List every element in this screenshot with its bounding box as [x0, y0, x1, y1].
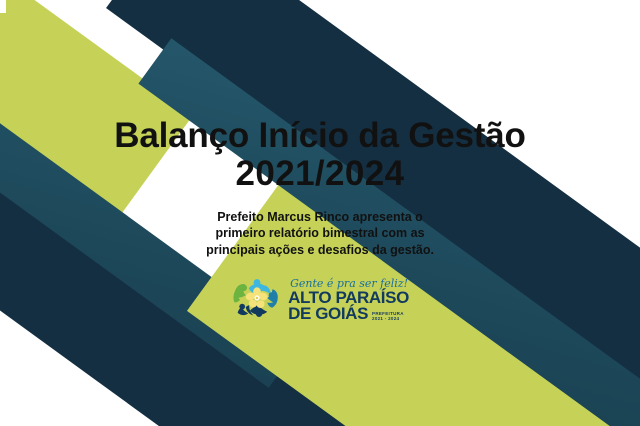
subtitle-line-3: principais ações e desafios da gestão.: [206, 242, 434, 259]
banner-slide: Balanço Início da Gestão 2021/2024 Prefe…: [0, 0, 640, 426]
logo-wordmark: Gente é pra ser feliz! ALTO PARAÍSO DE G…: [288, 278, 409, 322]
logo-state-row: DE GOIÁS PREFEITURA 2021 - 2024: [288, 306, 409, 322]
subtitle-block: Prefeito Marcus Rinco apresenta o primei…: [206, 209, 434, 259]
banner-content: Balanço Início da Gestão 2021/2024 Prefe…: [0, 0, 640, 426]
alto-paraiso-flower-people-emblem: [231, 276, 283, 324]
subtitle-line-1: Prefeito Marcus Rinco apresenta o: [206, 209, 434, 226]
logo-meta: PREFEITURA 2021 - 2024: [372, 311, 404, 322]
city-hall-logo: Gente é pra ser feliz! ALTO PARAÍSO DE G…: [231, 276, 409, 324]
logo-state-name: DE GOIÁS: [288, 306, 368, 322]
logo-meta-term: 2021 - 2024: [372, 316, 404, 321]
page-title: Balanço Início da Gestão: [114, 118, 525, 154]
title-block: Balanço Início da Gestão 2021/2024: [114, 118, 525, 193]
title-years: 2021/2024: [114, 156, 525, 192]
subtitle-line-2: primeiro relatório bimestral com as: [206, 225, 434, 242]
